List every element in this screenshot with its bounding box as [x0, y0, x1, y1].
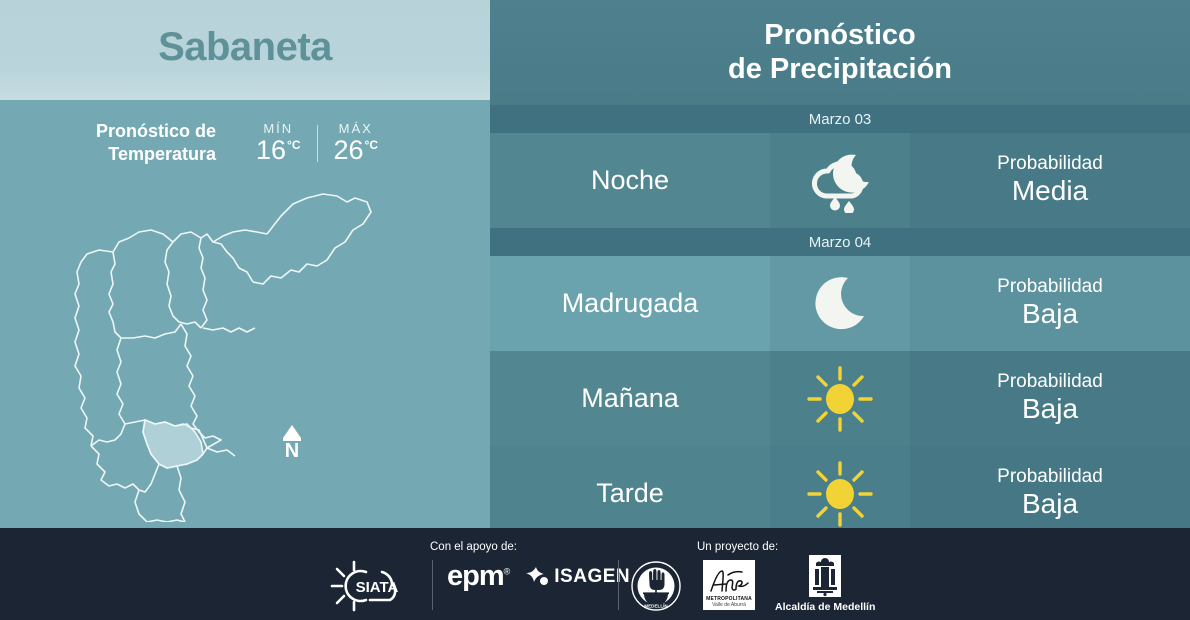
city-header: Sabaneta — [0, 0, 490, 100]
area-metropolitana-logo[interactable]: METROPOLITANA Valle de Aburrá — [703, 560, 755, 610]
forecast-icon-cell — [770, 256, 910, 351]
temperature-max-number: 26 — [334, 137, 364, 164]
date-band-marzo-04: Marzo 04 — [490, 228, 1190, 256]
footer: Con el apoyo de: Un proyecto de: SIATA — [0, 528, 1190, 620]
forecast-period-cell: Mañana — [490, 351, 770, 446]
temperature-min-number: 16 — [256, 137, 286, 164]
udea-seal-icon: MEDELLÍN — [630, 560, 682, 612]
left-panel: Sabaneta Pronóstico de Temperatura MÍN 1… — [0, 0, 490, 528]
forecast-row-noche[interactable]: Noche Probabilidad Media — [490, 133, 1190, 228]
forecast-period-label: Noche — [591, 165, 669, 196]
temperature-panel: Pronóstico de Temperatura MÍN 16°C MÁX — [0, 100, 490, 528]
temperature-values: MÍN 16°C MÁX 26°C — [240, 121, 394, 164]
siata-wordmark: SIATA — [356, 579, 399, 596]
forecast-period-label: Madrugada — [562, 288, 699, 319]
alcaldia-logo[interactable]: Alcaldía de Medellín — [775, 554, 875, 613]
temperature-title: Pronóstico de Temperatura — [96, 120, 216, 165]
temperature-min-unit: °C — [287, 139, 300, 151]
forecast-row-manana[interactable]: Mañana Pr — [490, 351, 1190, 446]
probability-label: Probabilidad — [997, 153, 1103, 175]
forecast-probability-cell: Probabilidad Baja — [910, 351, 1190, 446]
footer-divider-2 — [618, 560, 619, 610]
support-caption: Con el apoyo de: — [430, 541, 517, 553]
isagen-mark-icon — [525, 566, 549, 588]
compass-north-label: N — [278, 441, 306, 461]
precipitation-panel: Pronóstico de Precipitación Marzo 03 Noc… — [490, 0, 1190, 528]
temperature-title-line1: Pronóstico de — [96, 120, 216, 143]
probability-value: Baja — [1022, 488, 1078, 520]
alcaldia-shield-icon — [808, 554, 842, 598]
sun-icon — [807, 366, 873, 432]
probability-value: Media — [1012, 175, 1088, 207]
moon-icon — [810, 274, 870, 334]
siata-sun-cloud-icon: SIATA — [330, 560, 430, 612]
epm-logo[interactable]: epm® — [447, 560, 509, 593]
forecast-icon-cell — [770, 351, 910, 446]
temperature-max-label: MÁX — [339, 121, 373, 136]
probability-value: Baja — [1022, 393, 1078, 425]
temperature-min-value: 16°C — [256, 137, 301, 164]
sun-icon — [807, 461, 873, 527]
forecast-icon-cell — [770, 446, 910, 541]
aburra-valley-map — [55, 172, 385, 522]
forecast-period-cell: Madrugada — [490, 256, 770, 351]
temperature-min: MÍN 16°C — [240, 121, 317, 164]
temperature-max-value: 26°C — [334, 137, 379, 164]
area-script-icon — [706, 567, 752, 595]
probability-label: Probabilidad — [997, 276, 1103, 298]
alcaldia-label: Alcaldía de Medellín — [775, 601, 875, 613]
forecast-probability-cell: Probabilidad Baja — [910, 256, 1190, 351]
siata-logo[interactable]: SIATA — [330, 560, 430, 612]
epm-isagen-logos[interactable]: epm® ISAGEN — [447, 560, 630, 593]
date-label: Marzo 03 — [809, 111, 872, 128]
forecast-period-label: Tarde — [596, 478, 664, 509]
forecast-icon-cell — [770, 133, 910, 228]
project-caption: Un proyecto de: — [697, 541, 778, 553]
area-subtitle-2: Valle de Aburrá — [712, 602, 746, 608]
forecast-probability-cell: Probabilidad Media — [910, 133, 1190, 228]
compass: N — [278, 425, 306, 461]
area-metropolitana-box: METROPOLITANA Valle de Aburrá — [703, 560, 755, 610]
epm-registered-mark: ® — [504, 566, 510, 576]
forecast-row-madrugada[interactable]: Madrugada Probabilidad Baja — [490, 256, 1190, 351]
temperature-summary: Pronóstico de Temperatura MÍN 16°C MÁX — [0, 120, 490, 165]
moon-rain-cloud-icon — [804, 149, 876, 213]
isagen-logo[interactable]: ISAGEN — [525, 566, 630, 588]
forecast-period-cell: Tarde — [490, 446, 770, 541]
temperature-title-line2: Temperatura — [96, 143, 216, 166]
temperature-max: MÁX 26°C — [318, 121, 395, 164]
precipitation-title-line2: de Precipitación — [728, 53, 952, 87]
page-title: Sabaneta — [158, 25, 332, 76]
epm-wordmark: epm — [447, 560, 504, 592]
precipitation-title-line1: Pronóstico — [764, 19, 915, 53]
forecast-probability-cell: Probabilidad Baja — [910, 446, 1190, 541]
udea-seal-label: MEDELLÍN — [644, 602, 668, 609]
precipitation-header: Pronóstico de Precipitación — [490, 0, 1190, 105]
probability-label: Probabilidad — [997, 466, 1103, 488]
date-band-marzo-03: Marzo 03 — [490, 105, 1190, 133]
sabaneta-highlight — [143, 420, 203, 468]
forecast-period-cell: Noche — [490, 133, 770, 228]
temperature-max-unit: °C — [365, 139, 378, 151]
probability-value: Baja — [1022, 298, 1078, 330]
udea-logo[interactable]: MEDELLÍN — [630, 560, 682, 612]
forecast-row-tarde[interactable]: Tarde Pro — [490, 446, 1190, 541]
temperature-min-label: MÍN — [263, 121, 293, 136]
date-label: Marzo 04 — [809, 234, 872, 251]
probability-label: Probabilidad — [997, 371, 1103, 393]
weather-forecast-card: Sabaneta Pronóstico de Temperatura MÍN 1… — [0, 0, 1190, 620]
map-outline-icon — [55, 172, 385, 522]
footer-divider-1 — [432, 560, 433, 610]
forecast-period-label: Mañana — [581, 383, 679, 414]
